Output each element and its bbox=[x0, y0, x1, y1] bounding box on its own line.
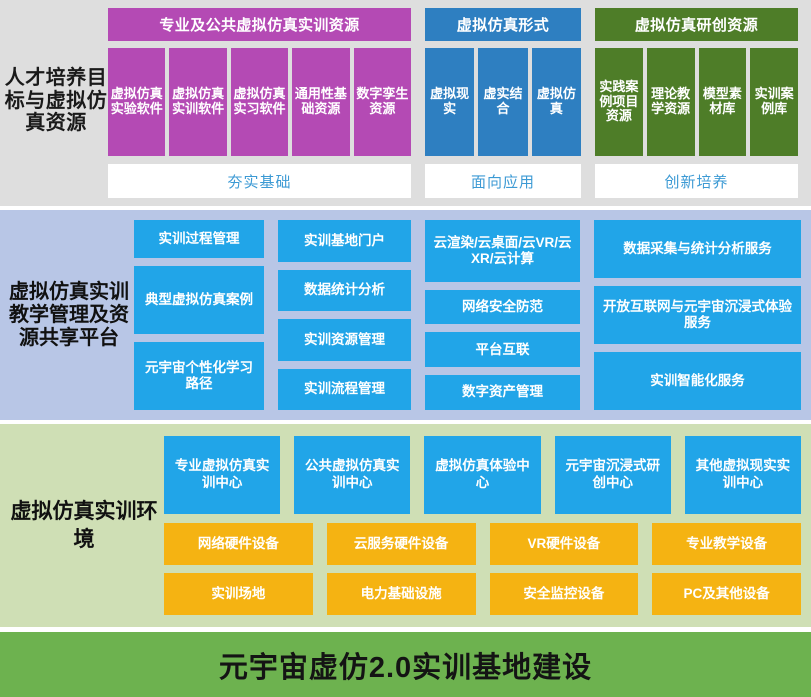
platform-item[interactable]: 数据采集与统计分析服务 bbox=[594, 220, 801, 278]
hardware-item[interactable]: 网络硬件设备 bbox=[164, 523, 313, 565]
group-research-creation-resources: 虚拟仿真研创资源 实践案例项目资源 理论教学资源 模型素材库 实训案例库 bbox=[595, 8, 798, 156]
center-item[interactable]: 其他虚拟现实实训中心 bbox=[685, 436, 801, 514]
platform-item[interactable]: 元宇宙个性化学习路径 bbox=[134, 342, 264, 410]
platform-item[interactable]: 云渲染/云桌面/云VR/云XR/云计算 bbox=[425, 220, 580, 282]
footer-title: 元宇宙虚仿2.0实训基地建设 bbox=[219, 644, 592, 686]
resource-cell[interactable]: 实践案例项目资源 bbox=[595, 48, 643, 156]
group-header: 虚拟仿真研创资源 bbox=[595, 8, 798, 41]
platform-item[interactable]: 实训过程管理 bbox=[134, 220, 264, 258]
hardware-item[interactable]: VR硬件设备 bbox=[490, 523, 639, 565]
stage-label-application: 面向应用 bbox=[425, 164, 581, 198]
hardware-item[interactable]: 专业教学设备 bbox=[652, 523, 801, 565]
group-cells: 虚拟现实 虚实结合 虚拟仿真 bbox=[425, 48, 581, 156]
group-professional-public-resources: 专业及公共虚拟仿真实训资源 虚拟仿真实验软件 虚拟仿真实训软件 虚拟仿真实习软件… bbox=[108, 8, 411, 156]
centers-row: 专业虚拟仿真实训中心 公共虚拟仿真实训中心 虚拟仿真体验中心 元宇宙沉浸式研创中… bbox=[164, 436, 801, 514]
section3-label: 虚拟仿真实训环境 bbox=[4, 436, 164, 615]
platform-item[interactable]: 典型虚拟仿真案例 bbox=[134, 266, 264, 334]
hardware-item[interactable]: 云服务硬件设备 bbox=[327, 523, 476, 565]
diagram-root: 人才培养目标与虚拟仿真资源 专业及公共虚拟仿真实训资源 虚拟仿真实验软件 虚拟仿… bbox=[0, 0, 811, 697]
platform-item[interactable]: 数据统计分析 bbox=[278, 270, 411, 312]
resource-cell[interactable]: 模型素材库 bbox=[699, 48, 747, 156]
section2-columns: 实训过程管理 典型虚拟仿真案例 元宇宙个性化学习路径 实训基地门户 数据统计分析… bbox=[134, 220, 801, 410]
group-cells: 虚拟仿真实验软件 虚拟仿真实训软件 虚拟仿真实习软件 通用性基础资源 数字孪生资… bbox=[108, 48, 411, 156]
group-header: 专业及公共虚拟仿真实训资源 bbox=[108, 8, 411, 41]
stage-label-foundation: 夯实基础 bbox=[108, 164, 411, 198]
center-item[interactable]: 元宇宙沉浸式研创中心 bbox=[555, 436, 671, 514]
platform-column-4: 数据采集与统计分析服务 开放互联网与元宇宙沉浸式体验服务 实训智能化服务 bbox=[594, 220, 801, 410]
resource-cell[interactable]: 实训案例库 bbox=[750, 48, 798, 156]
section3-body: 专业虚拟仿真实训中心 公共虚拟仿真实训中心 虚拟仿真体验中心 元宇宙沉浸式研创中… bbox=[164, 436, 801, 615]
resource-cell[interactable]: 虚拟仿真实训软件 bbox=[169, 48, 226, 156]
section1-label: 人才培养目标与虚拟仿真资源 bbox=[4, 8, 108, 200]
hardware-item[interactable]: 电力基础设施 bbox=[327, 573, 476, 615]
section-platform: 虚拟仿真实训教学管理及资源共享平台 实训过程管理 典型虚拟仿真案例 元宇宙个性化… bbox=[0, 210, 811, 420]
section1-body: 专业及公共虚拟仿真实训资源 虚拟仿真实验软件 虚拟仿真实训软件 虚拟仿真实习软件… bbox=[108, 8, 805, 200]
hardware-item[interactable]: 实训场地 bbox=[164, 573, 313, 615]
resource-cell[interactable]: 虚拟现实 bbox=[425, 48, 474, 156]
platform-item[interactable]: 开放互联网与元宇宙沉浸式体验服务 bbox=[594, 286, 801, 344]
platform-column-2: 实训基地门户 数据统计分析 实训资源管理 实训流程管理 bbox=[278, 220, 411, 410]
center-item[interactable]: 专业虚拟仿真实训中心 bbox=[164, 436, 280, 514]
footer-banner: 元宇宙虚仿2.0实训基地建设 bbox=[0, 632, 811, 697]
section-talent-training: 人才培养目标与虚拟仿真资源 专业及公共虚拟仿真实训资源 虚拟仿真实验软件 虚拟仿… bbox=[0, 0, 811, 206]
resource-cell[interactable]: 虚拟仿真实习软件 bbox=[231, 48, 288, 156]
resource-cell[interactable]: 数字孪生资源 bbox=[354, 48, 411, 156]
hardware-row: 网络硬件设备 云服务硬件设备 VR硬件设备 专业教学设备 bbox=[164, 523, 801, 565]
group-header: 虚拟仿真形式 bbox=[425, 8, 581, 41]
platform-item[interactable]: 实训基地门户 bbox=[278, 220, 411, 262]
hardware-row: 实训场地 电力基础设施 安全监控设备 PC及其他设备 bbox=[164, 573, 801, 615]
section-environment: 虚拟仿真实训环境 专业虚拟仿真实训中心 公共虚拟仿真实训中心 虚拟仿真体验中心 … bbox=[0, 424, 811, 627]
group-cells: 实践案例项目资源 理论教学资源 模型素材库 实训案例库 bbox=[595, 48, 798, 156]
section1-groups: 专业及公共虚拟仿真实训资源 虚拟仿真实验软件 虚拟仿真实训软件 虚拟仿真实习软件… bbox=[108, 8, 805, 156]
hardware-item[interactable]: PC及其他设备 bbox=[652, 573, 801, 615]
stage-label-innovation: 创新培养 bbox=[595, 164, 798, 198]
platform-column-1: 实训过程管理 典型虚拟仿真案例 元宇宙个性化学习路径 bbox=[134, 220, 264, 410]
platform-item[interactable]: 数字资产管理 bbox=[425, 375, 580, 410]
platform-item[interactable]: 平台互联 bbox=[425, 332, 580, 367]
hardware-rows: 网络硬件设备 云服务硬件设备 VR硬件设备 专业教学设备 实训场地 电力基础设施… bbox=[164, 523, 801, 615]
platform-item[interactable]: 实训流程管理 bbox=[278, 369, 411, 411]
platform-item[interactable]: 网络安全防范 bbox=[425, 290, 580, 325]
platform-item[interactable]: 实训资源管理 bbox=[278, 319, 411, 361]
platform-column-3: 云渲染/云桌面/云VR/云XR/云计算 网络安全防范 平台互联 数字资产管理 bbox=[425, 220, 580, 410]
resource-cell[interactable]: 理论教学资源 bbox=[647, 48, 695, 156]
group-simulation-forms: 虚拟仿真形式 虚拟现实 虚实结合 虚拟仿真 bbox=[425, 8, 581, 156]
center-item[interactable]: 公共虚拟仿真实训中心 bbox=[294, 436, 410, 514]
center-item[interactable]: 虚拟仿真体验中心 bbox=[424, 436, 540, 514]
section2-label: 虚拟仿真实训教学管理及资源共享平台 bbox=[4, 220, 134, 410]
resource-cell[interactable]: 虚拟仿真 bbox=[532, 48, 581, 156]
resource-cell[interactable]: 通用性基础资源 bbox=[292, 48, 349, 156]
platform-item[interactable]: 实训智能化服务 bbox=[594, 352, 801, 410]
section1-footer-row: 夯实基础 面向应用 创新培养 bbox=[108, 164, 805, 198]
resource-cell[interactable]: 虚拟仿真实验软件 bbox=[108, 48, 165, 156]
resource-cell[interactable]: 虚实结合 bbox=[478, 48, 527, 156]
hardware-item[interactable]: 安全监控设备 bbox=[490, 573, 639, 615]
